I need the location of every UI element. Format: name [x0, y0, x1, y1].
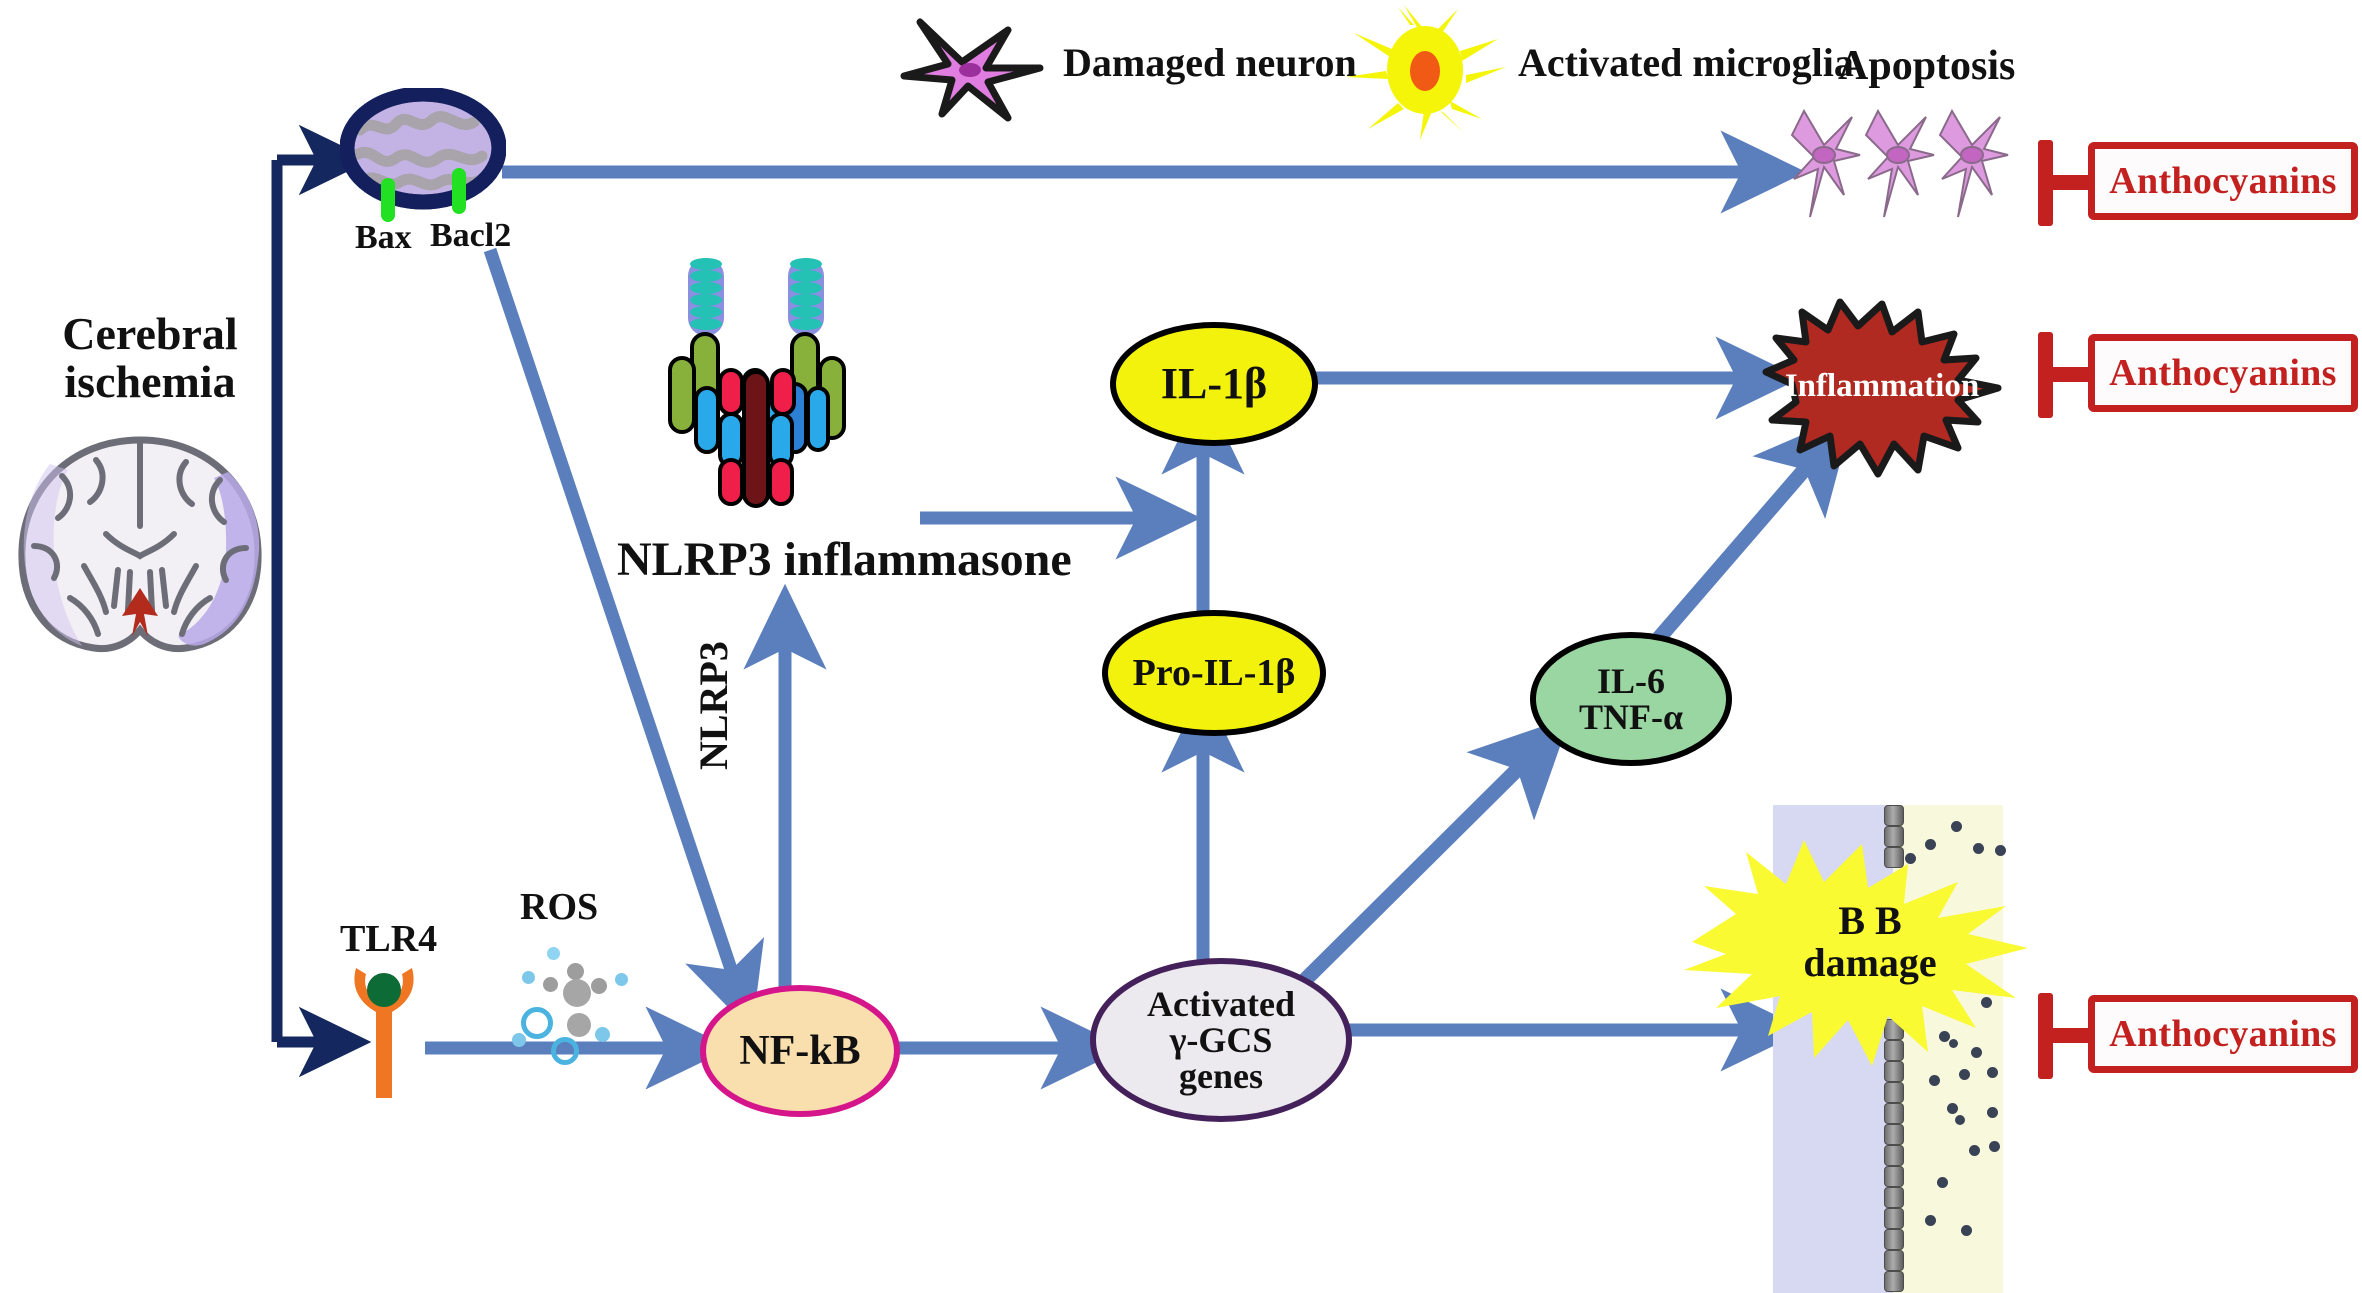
- lrr-stack-left: [688, 258, 724, 336]
- node-gcs-genes[interactable]: Activated γ-GCS genes: [1090, 958, 1352, 1122]
- ros-label: ROS: [520, 888, 598, 928]
- legend-damaged-neuron-label: Damaged neuron: [1063, 42, 1357, 84]
- nlrp3-inflammasome-label: NLRP3 inflammasone: [617, 535, 1072, 585]
- legend-activated-microglia-label: Activated microglia: [1518, 42, 1854, 84]
- inhibitor-anthocyanins-bbb[interactable]: Anthocyanins: [2088, 995, 2358, 1073]
- stimulus-label: Cerebral ischemia: [35, 310, 265, 407]
- apoptosis-label: Apoptosis: [1838, 44, 2015, 88]
- activated-microglia-icon: [1340, 5, 1510, 140]
- lrr-stack-right: [788, 258, 824, 336]
- node-nfkb[interactable]: NF-kB: [700, 985, 900, 1117]
- inhibitor-anthocyanins-apoptosis[interactable]: Anthocyanins: [2088, 142, 2358, 220]
- node-il6-tnfa[interactable]: IL-6 TNF-α: [1530, 632, 1732, 766]
- node-il1b[interactable]: IL-1β: [1110, 322, 1318, 446]
- brain-coronal-slice-icon: [10, 430, 270, 665]
- inhibitor-stem-apoptosis: [2048, 175, 2090, 190]
- damaged-neuron-icon: [890, 10, 1070, 125]
- legend-activated-microglia: [1340, 5, 1510, 145]
- apoptotic-cells-icon: [1790, 105, 2020, 230]
- node-proil1b[interactable]: Pro-IL-1β: [1102, 610, 1326, 736]
- inhibitor-anthocyanins-inflammation[interactable]: Anthocyanins: [2088, 334, 2358, 412]
- inhibitor-stem-inflammation: [2048, 367, 2090, 382]
- inflammation-label: Inflammation: [1762, 368, 2002, 405]
- pathway-diagram-canvas: Damaged neuron Activated microglia Cereb…: [0, 0, 2362, 1293]
- bax-label: Bax: [355, 220, 412, 256]
- bacl2-channel-icon: [452, 168, 466, 214]
- legend-damaged-neuron: [890, 10, 1070, 130]
- bax-channel-icon: [381, 178, 395, 222]
- edge-ischemia-bracket: [277, 160, 345, 1042]
- bbb-damage-label: B B damage: [1760, 900, 1980, 984]
- edge-label-nlrp3: NLRP3: [693, 641, 735, 770]
- bacl2-label: Bacl2: [430, 218, 511, 254]
- edge-gcs-to-il6: [1300, 742, 1545, 985]
- ros-particles-icon: [495, 945, 655, 1055]
- inhibitor-stem-bbb: [2048, 1028, 2090, 1043]
- mitochondrion-icon: [340, 88, 506, 221]
- tlr4-receptor-icon: [340, 960, 430, 1110]
- tlr4-label: TLR4: [340, 920, 437, 960]
- nlrp3-inflammasome-icon: [660, 248, 880, 523]
